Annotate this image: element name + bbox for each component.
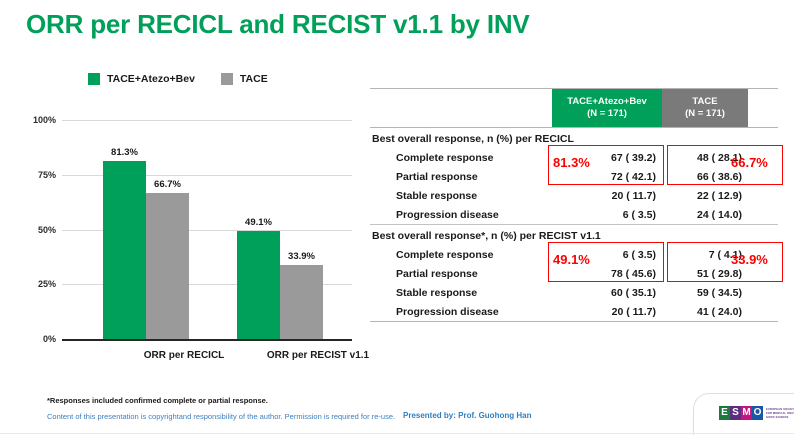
highlight-value-arm-a: 49.1% — [553, 252, 590, 267]
row-label: Stable response — [396, 287, 477, 299]
bar-value-label: 49.1% — [245, 217, 272, 228]
row-value-arm-b: 24 ( 14.0) — [662, 209, 742, 221]
green-square-icon — [88, 73, 100, 85]
chart-legend: TACE+Atezo+Bev TACE — [88, 73, 268, 85]
row-label: Partial response — [396, 171, 478, 183]
row-value-arm-a: 72 ( 42.1) — [552, 171, 656, 183]
row-value-arm-b: 41 ( 24.0) — [662, 306, 742, 318]
bar-chart: 100% 75% 50% 25% 0% 81.3% 66.7% 49.1% 33… — [14, 112, 359, 357]
y-tick-label: 0% — [43, 334, 56, 344]
esmo-letter-m: M — [741, 406, 752, 420]
row-value-arm-b: 66 ( 38.6) — [662, 171, 742, 183]
esmo-tagline: EUROPEAN SOCIETY FOR MEDICAL ONCOLOGY GO… — [766, 408, 794, 419]
table-header-tace-atezo-bev: TACE+Atezo+Bev (N = 171) — [552, 89, 662, 127]
esmo-letter-s: S — [730, 406, 741, 420]
slide-canvas: ORR per RECICL and RECIST v1.1 by INV TA… — [0, 0, 794, 434]
row-value-arm-a: 60 ( 35.1) — [552, 287, 656, 299]
highlight-value-arm-b: 33.9% — [731, 252, 768, 267]
row-value-arm-a: 6 ( 3.5) — [552, 209, 656, 221]
row-value-arm-a: 78 ( 45.6) — [552, 268, 656, 280]
row-label: Progression disease — [396, 306, 499, 318]
legend-item-tace-atezo-bev: TACE+Atezo+Bev — [88, 73, 195, 85]
x-tick-label-recist: ORR per RECIST v1.1 — [267, 350, 369, 361]
row-label: Complete response — [396, 249, 493, 261]
legend-label: TACE+Atezo+Bev — [107, 73, 195, 85]
table-row: Progression disease 20 ( 11.7) 41 ( 24.0… — [370, 302, 778, 321]
page-title: ORR per RECICL and RECIST v1.1 by INV — [26, 9, 530, 40]
section-title: Best overall response, n (%) per RECICL — [370, 128, 778, 148]
y-tick-label: 25% — [38, 279, 56, 289]
row-value-arm-a: 20 ( 11.7) — [552, 190, 656, 202]
legend-label: TACE — [240, 73, 268, 85]
bar-value-label: 33.9% — [288, 251, 315, 262]
row-value-arm-b: 59 ( 34.5) — [662, 287, 742, 299]
row-value-arm-b: 7 ( 4.1) — [662, 249, 742, 261]
presented-by-text: Presented by: Prof. Guohong Han — [403, 411, 531, 420]
highlight-value-arm-b: 66.7% — [731, 155, 768, 170]
bar-recist-tace-atezo-bev[interactable]: 49.1% — [237, 231, 280, 339]
header-arm-n: (N = 171) — [685, 108, 725, 120]
bar-recist-tace[interactable]: 33.9% — [280, 265, 323, 339]
logo-panel: E S M O EUROPEAN SOCIETY FOR MEDICAL ONC… — [693, 393, 794, 435]
row-label: Partial response — [396, 268, 478, 280]
header-arm-n: (N = 171) — [587, 108, 627, 120]
esmo-logo: E S M O EUROPEAN SOCIETY FOR MEDICAL ONC… — [719, 406, 794, 420]
row-value-arm-b: 51 ( 29.8) — [662, 268, 742, 280]
row-value-arm-b: 48 ( 28.1) — [662, 152, 742, 164]
table-header-row: TACE+Atezo+Bev (N = 171) TACE (N = 171) — [370, 89, 778, 127]
esmo-tagline-line: FOR MEDICAL ONCOLOGY — [766, 412, 794, 415]
bar-value-label: 81.3% — [111, 147, 138, 158]
grey-square-icon — [221, 73, 233, 85]
bar-recicl-tace[interactable]: 66.7% — [146, 193, 189, 339]
row-label: Stable response — [396, 190, 477, 202]
table-section-recist: Best overall response*, n (%) per RECIST… — [370, 225, 778, 321]
table-row: Stable response 20 ( 11.7) 22 ( 12.9) — [370, 186, 778, 205]
header-arm-name: TACE — [692, 96, 717, 108]
row-value-arm-a: 20 ( 11.7) — [552, 306, 656, 318]
esmo-letter-o: O — [752, 406, 763, 420]
header-arm-name: TACE+Atezo+Bev — [567, 96, 647, 108]
highlight-value-arm-a: 81.3% — [553, 155, 590, 170]
esmo-tagline-line: GOOD SCIENCE — [766, 416, 794, 419]
table-row: Stable response 60 ( 35.1) 59 ( 34.5) — [370, 283, 778, 302]
esmo-letter-blocks: E S M O — [719, 406, 763, 420]
row-value-arm-b: 22 ( 12.9) — [662, 190, 742, 202]
esmo-tagline-line: EUROPEAN SOCIETY — [766, 408, 794, 411]
x-axis-line — [62, 339, 352, 341]
x-tick-label-recicl: ORR per RECICL — [144, 350, 225, 361]
esmo-letter-e: E — [719, 406, 730, 420]
y-tick-label: 50% — [38, 225, 56, 235]
y-tick-label: 75% — [38, 170, 56, 180]
footnote-text: *Responses included confirmed complete o… — [47, 396, 268, 405]
response-table: TACE+Atezo+Bev (N = 171) TACE (N = 171) … — [370, 88, 778, 322]
table-bottom-rule — [370, 321, 778, 322]
copyright-text: Content of this presentation is copyrigh… — [47, 412, 395, 421]
table-header-tace: TACE (N = 171) — [662, 89, 748, 127]
table-row: Progression disease 6 ( 3.5) 24 ( 14.0) — [370, 205, 778, 224]
y-tick-label: 100% — [33, 115, 56, 125]
row-label: Progression disease — [396, 209, 499, 221]
section-title: Best overall response*, n (%) per RECIST… — [370, 225, 778, 245]
gridline-100 — [62, 120, 352, 121]
chart-plot-area: 100% 75% 50% 25% 0% 81.3% 66.7% 49.1% 33… — [62, 120, 352, 341]
row-label: Complete response — [396, 152, 493, 164]
bar-value-label: 66.7% — [154, 179, 181, 190]
legend-item-tace: TACE — [221, 73, 268, 85]
bar-recicl-tace-atezo-bev[interactable]: 81.3% — [103, 161, 146, 339]
table-section-recicl: Best overall response, n (%) per RECICL … — [370, 128, 778, 224]
